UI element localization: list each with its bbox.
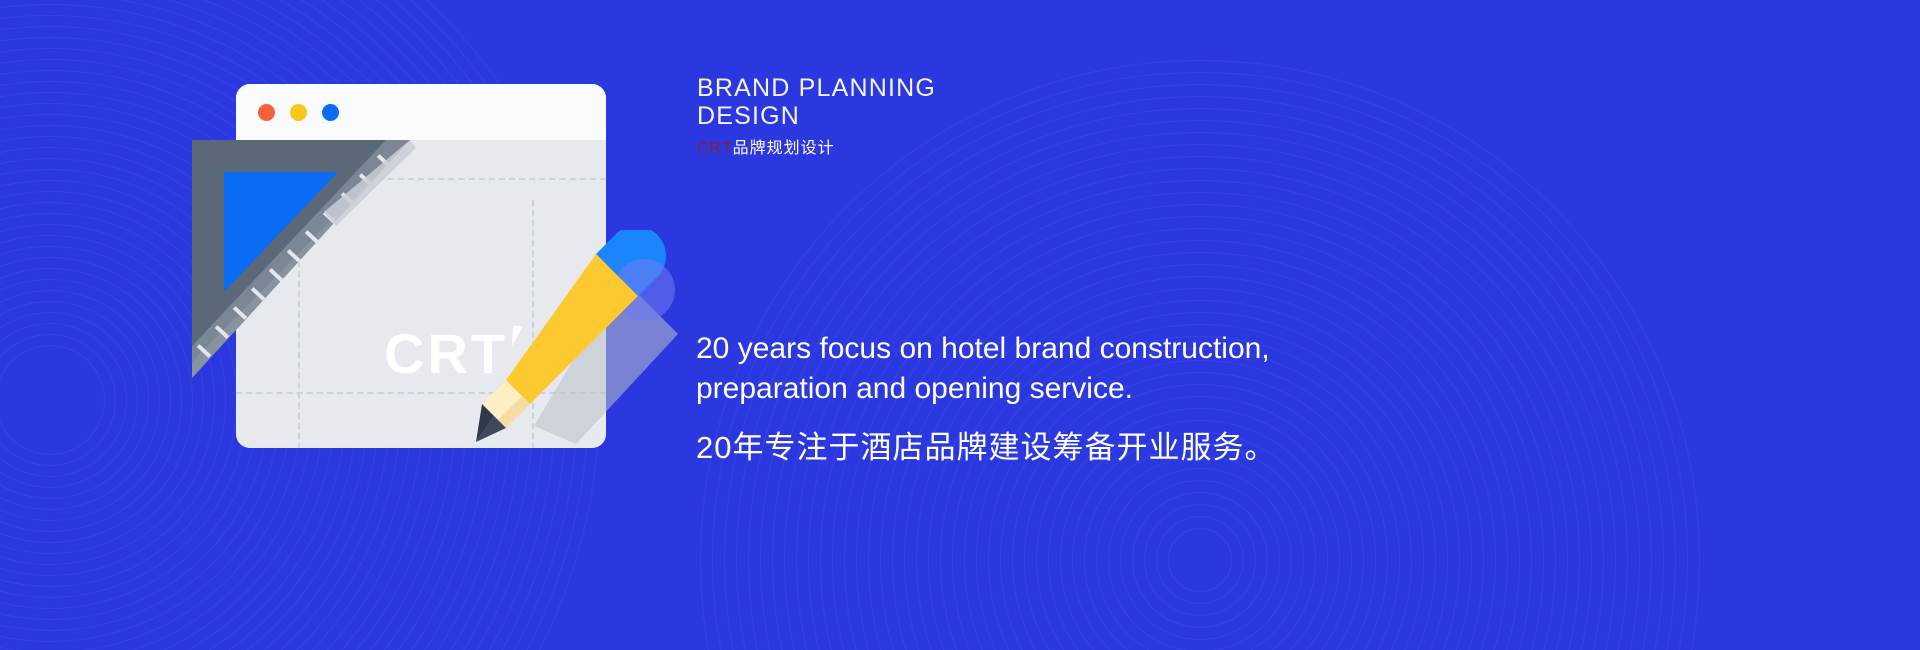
- tagline-chinese: 20年专注于酒店品牌建设筹备开业服务。: [696, 422, 1416, 467]
- tagline-english: 20 years focus on hotel brand constructi…: [696, 329, 1416, 408]
- page-title: BRAND PLANNING DESIGN: [697, 74, 1257, 130]
- subtitle: CRT品牌规划设计: [697, 139, 1257, 158]
- tagline-block: 20 years focus on hotel brand constructi…: [696, 329, 1416, 467]
- brand-name: CRT: [697, 140, 733, 157]
- decorative-ring: [1144, 504, 1256, 616]
- decorative-ring: [1156, 516, 1244, 604]
- decorative-ring: [1132, 492, 1268, 628]
- decorative-ring: [1084, 444, 1316, 650]
- decorative-ring: [1096, 456, 1304, 650]
- hero-banner: CRT: [0, 0, 1920, 650]
- decorative-ring: [0, 279, 171, 521]
- maximize-dot-icon[interactable]: [322, 104, 339, 121]
- card-titlebar: [236, 84, 606, 140]
- pencil-icon: [472, 230, 686, 456]
- subtitle-text: 品牌规划设计: [733, 140, 835, 157]
- decorative-ring: [0, 246, 204, 554]
- decorative-ring: [0, 334, 116, 466]
- close-dot-icon[interactable]: [258, 104, 275, 121]
- brand-design-illustration: CRT: [186, 78, 686, 458]
- triangle-ruler-icon: [186, 134, 416, 384]
- decorative-ring: [0, 268, 182, 532]
- headline-block: BRAND PLANNING DESIGN CRT品牌规划设计: [697, 74, 1257, 158]
- decorative-ring: [1120, 480, 1280, 640]
- decorative-ring: [1108, 468, 1292, 650]
- decorative-ring: [0, 312, 138, 488]
- decorative-ring: [0, 323, 127, 477]
- decorative-ring: [0, 290, 160, 510]
- decorative-ring: [0, 345, 105, 455]
- decorative-ring: [0, 301, 149, 499]
- minimize-dot-icon[interactable]: [290, 104, 307, 121]
- decorative-ring: [0, 235, 215, 565]
- decorative-ring: [1168, 528, 1232, 592]
- decorative-ring: [0, 257, 193, 543]
